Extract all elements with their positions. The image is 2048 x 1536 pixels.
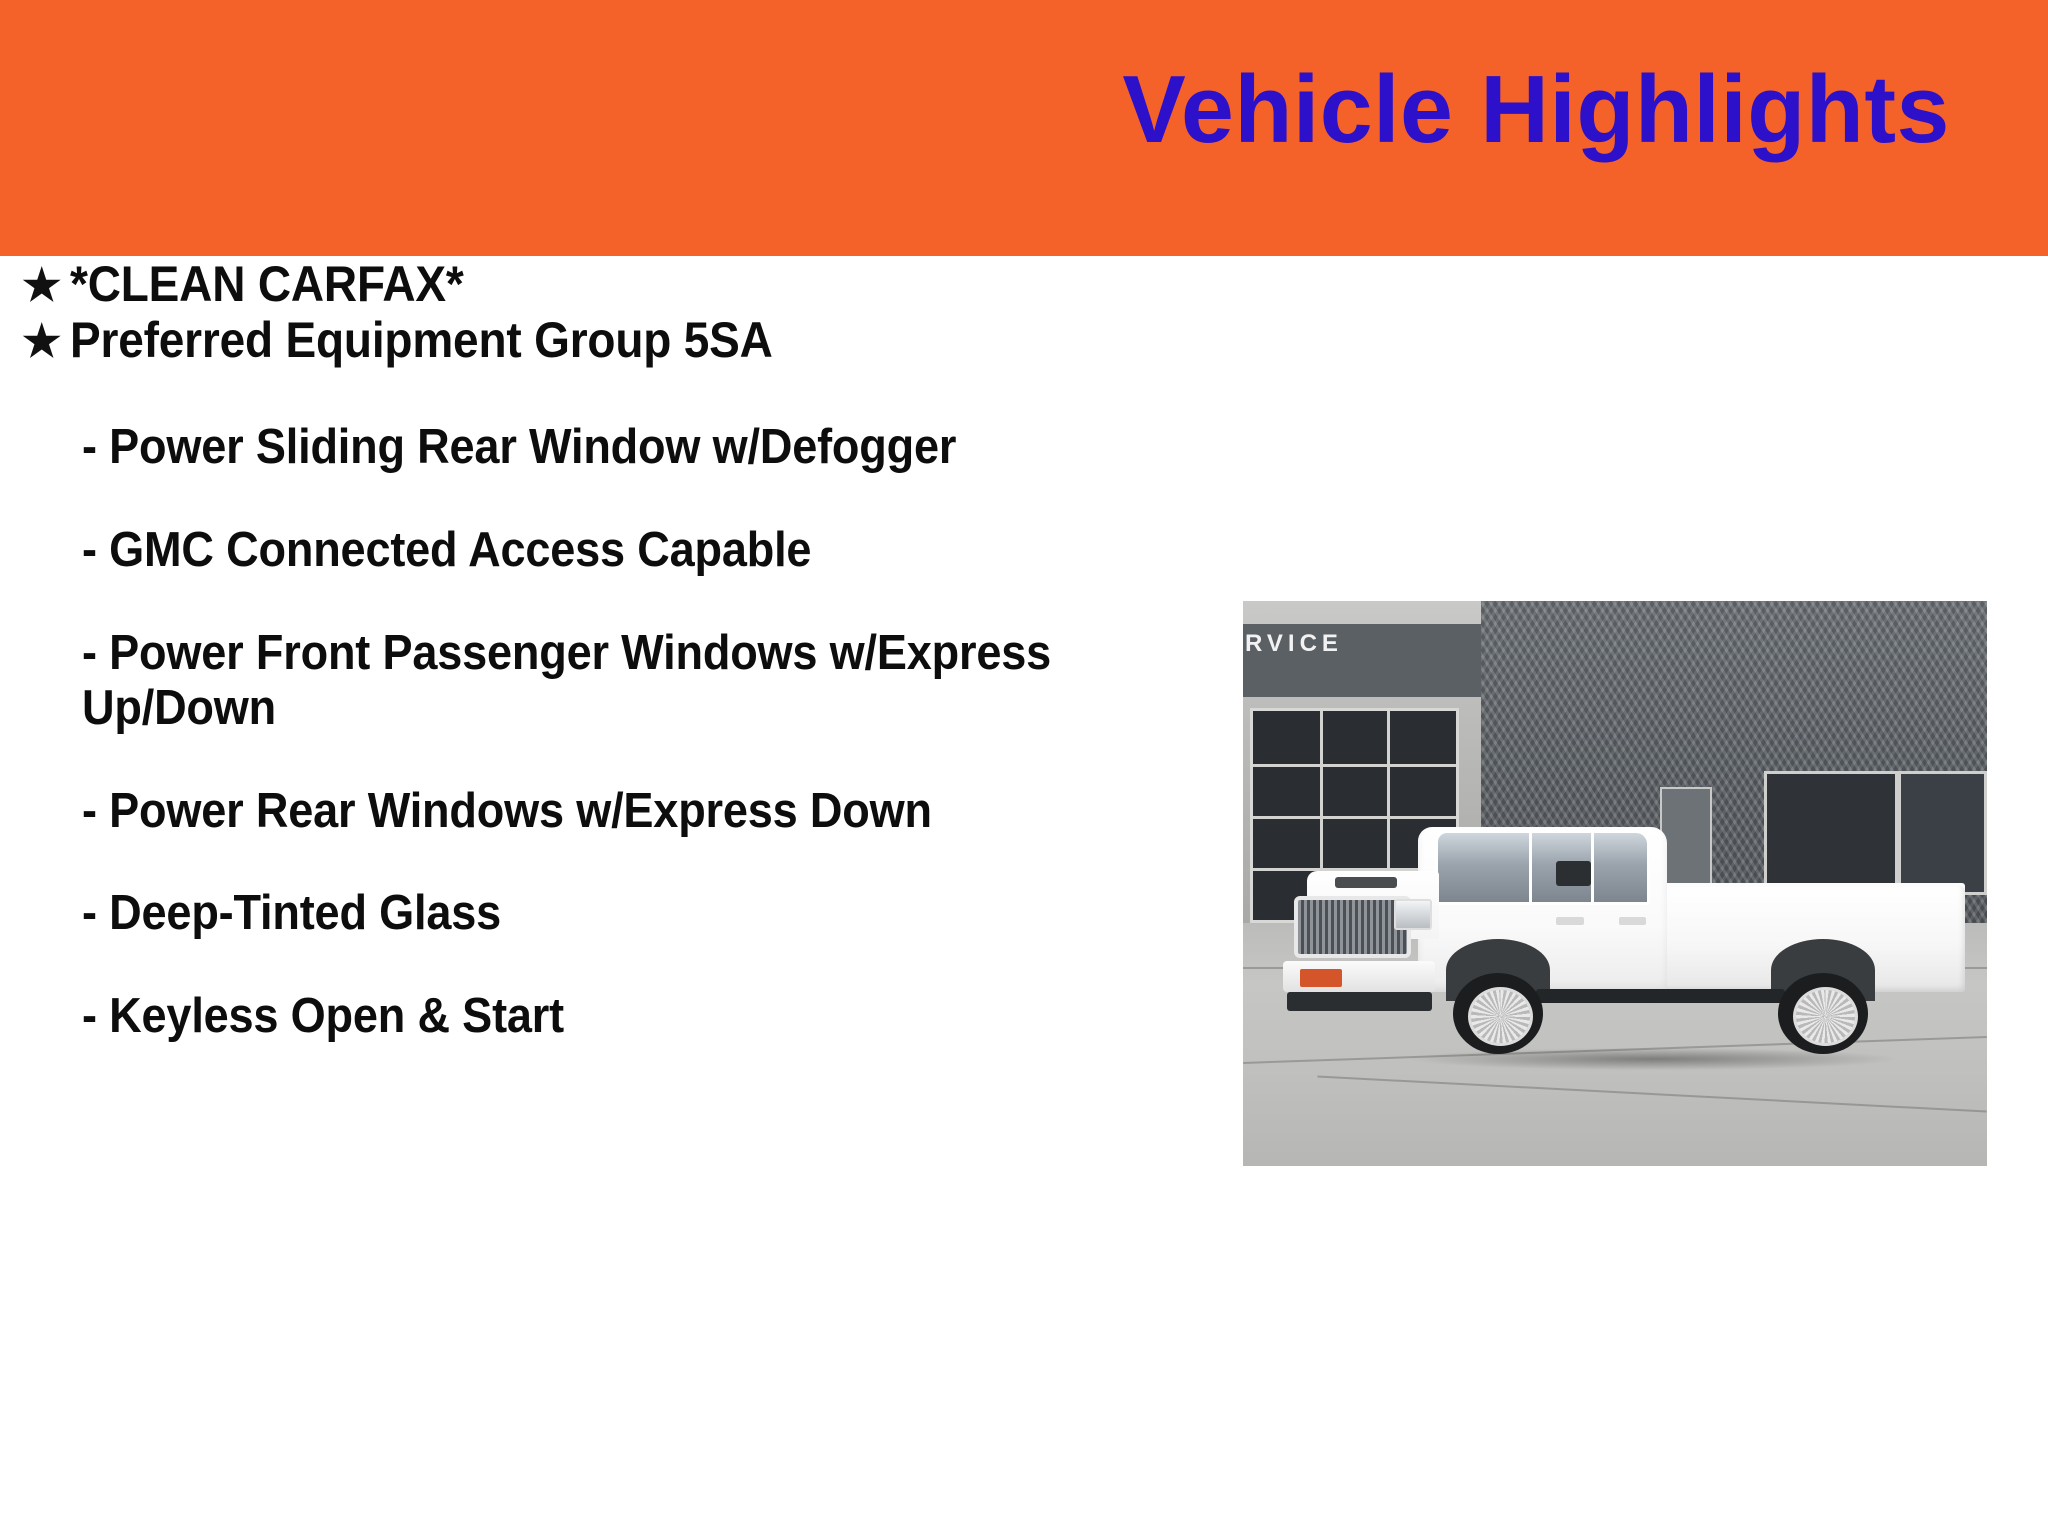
vehicle-features-list: ★ *CLEAN CARFAX* ★ Preferred Equipment G… (0, 256, 1210, 1044)
truck-door-handle (1619, 917, 1647, 925)
truck-b-pillar (1529, 833, 1532, 901)
feature-text: - Keyless Open & Start (82, 989, 1120, 1044)
feature-text: - Power Sliding Rear Window w/Defogger (82, 420, 1120, 475)
feature-text: - Deep-Tinted Glass (82, 886, 1120, 941)
vehicle-photo: RVICE (1243, 601, 1987, 1166)
pickup-truck (1273, 793, 1965, 1104)
star-bullet-icon: ★ (22, 264, 70, 308)
list-item: - GMC Connected Access Capable (0, 523, 1210, 578)
truck-rear-wheel (1778, 973, 1868, 1054)
header-bar: Vehicle Highlights (0, 0, 2048, 256)
list-item: - Power Sliding Rear Window w/Defogger (0, 420, 1210, 475)
truck-c-pillar (1591, 833, 1594, 901)
list-item: ★ Preferred Equipment Group 5SA (0, 312, 1210, 368)
service-sign-text: RVICE (1245, 627, 1483, 662)
truck-headlight (1394, 899, 1432, 930)
list-item: - Keyless Open & Start (0, 989, 1210, 1044)
star-bullet-icon: ★ (22, 320, 70, 364)
vehicle-highlights-slide: Vehicle Highlights ★ *CLEAN CARFAX* ★ Pr… (0, 0, 2048, 1536)
feature-text: - Power Rear Windows w/Express Down (82, 784, 1120, 839)
list-item: - Deep-Tinted Glass (0, 886, 1210, 941)
page-title: Vehicle Highlights (1123, 58, 1950, 162)
truck-windows (1435, 830, 1649, 905)
list-item: - Power Front Passenger Windows w/Expres… (0, 626, 1210, 736)
list-item: ★ *CLEAN CARFAX* (0, 256, 1210, 312)
feature-text: *CLEAN CARFAX* (70, 256, 1119, 312)
truck-hood-scoop (1335, 877, 1397, 888)
truck-front-wheel (1453, 973, 1543, 1054)
truck-side-mirror (1556, 861, 1591, 886)
truck-lower-bumper (1287, 992, 1432, 1011)
feature-text: Preferred Equipment Group 5SA (70, 312, 1119, 368)
truck-running-board (1536, 989, 1785, 1003)
feature-text: - GMC Connected Access Capable (82, 523, 1120, 578)
list-item: - Power Rear Windows w/Express Down (0, 784, 1210, 839)
feature-text: - Power Front Passenger Windows w/Expres… (82, 626, 1120, 736)
truck-door-handle (1556, 917, 1584, 925)
truck-license-plate (1300, 969, 1342, 988)
